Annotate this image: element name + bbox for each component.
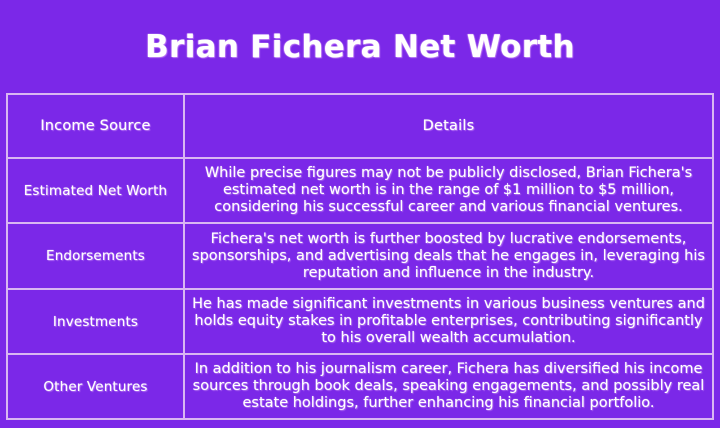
- row-source-label: Estimated Net Worth: [7, 158, 184, 223]
- row-details-text: While precise figures may not be publicl…: [184, 158, 713, 223]
- column-header-income-source: Income Source: [7, 94, 184, 158]
- row-details-text: Fichera's net worth is further boosted b…: [184, 223, 713, 289]
- title-bar: Brian Fichera Net Worth: [0, 0, 720, 93]
- table-header-row: Income Source Details: [7, 94, 713, 158]
- table-row: Endorsements Fichera's net worth is furt…: [7, 223, 713, 289]
- row-source-label: Endorsements: [7, 223, 184, 289]
- row-source-label: Other Ventures: [7, 354, 184, 419]
- net-worth-table: Income Source Details Estimated Net Wort…: [6, 93, 714, 420]
- table-row: Other Ventures In addition to his journa…: [7, 354, 713, 419]
- column-header-details: Details: [184, 94, 713, 158]
- table-body: Estimated Net Worth While precise figure…: [7, 158, 713, 419]
- table-row: Estimated Net Worth While precise figure…: [7, 158, 713, 223]
- page-title: Brian Fichera Net Worth: [145, 29, 575, 65]
- row-details-text: In addition to his journalism career, Fi…: [184, 354, 713, 419]
- row-source-label: Investments: [7, 289, 184, 354]
- row-details-text: He has made significant investments in v…: [184, 289, 713, 354]
- net-worth-infographic: Brian Fichera Net Worth Income Source De…: [0, 0, 720, 428]
- table-row: Investments He has made significant inve…: [7, 289, 713, 354]
- table-header: Income Source Details: [7, 94, 713, 158]
